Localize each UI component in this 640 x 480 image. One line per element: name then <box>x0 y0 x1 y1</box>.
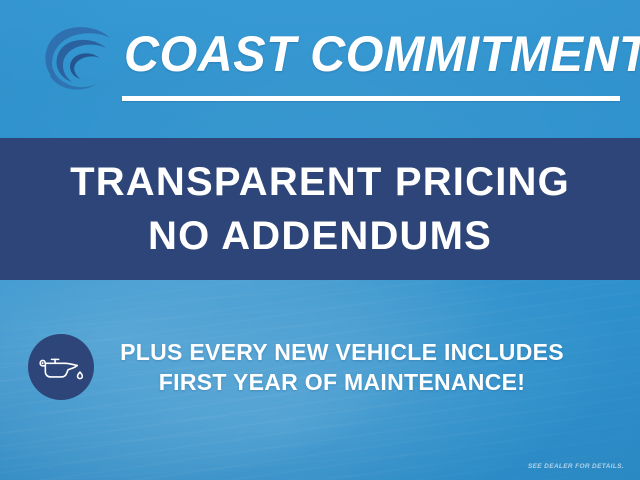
headline-band: TRANSPARENT PRICING NO ADDENDUMS <box>0 138 640 280</box>
disclaimer-text: SEE DEALER FOR DETAILS. <box>528 463 624 470</box>
promo-line-2: FIRST YEAR OF MAINTENANCE! <box>112 367 572 397</box>
promo-text-block: PLUS EVERY NEW VEHICLE INCLUDES FIRST YE… <box>112 337 572 397</box>
promo-row: PLUS EVERY NEW VEHICLE INCLUDES FIRST YE… <box>0 326 640 408</box>
header-divider <box>122 96 620 101</box>
oil-can-icon <box>28 334 94 400</box>
headline-line-2: NO ADDENDUMS <box>148 209 492 263</box>
banner-header: COAST COMMITMENT <box>0 0 640 138</box>
wave-swirl-logo-icon <box>36 22 116 100</box>
headline-line-1: TRANSPARENT PRICING <box>70 155 570 209</box>
page-title: COAST COMMITMENT <box>124 23 609 85</box>
coast-commitment-banner: COAST COMMITMENT TRANSPARENT PRICING NO … <box>0 0 640 480</box>
promo-line-1: PLUS EVERY NEW VEHICLE INCLUDES <box>112 337 572 367</box>
